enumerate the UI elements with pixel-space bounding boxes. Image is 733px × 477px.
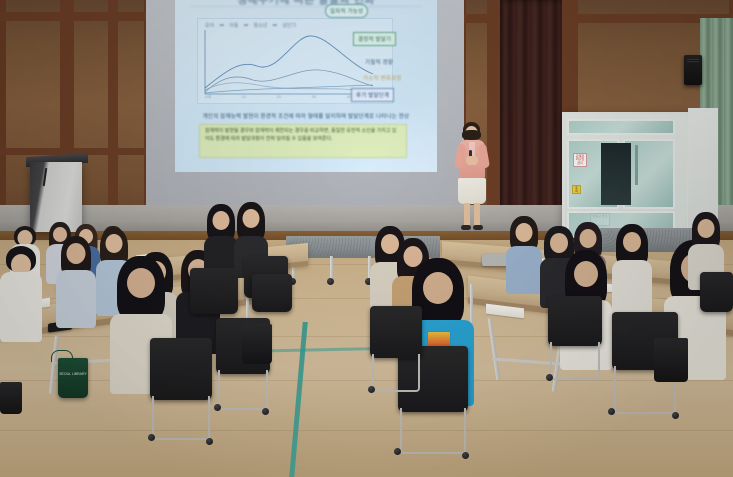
transom-pane (567, 119, 675, 135)
wall-speaker-icon (684, 55, 702, 85)
xtick-0: 0세 (205, 94, 211, 100)
door-sign-restricted: 관계자 외출입 금지 (573, 153, 587, 167)
slide-caption: 개인의 잠재능력 발현이 환경적 조건에 따라 형태를 달리하며 발달단계로 나… (187, 112, 425, 120)
tray-object (482, 254, 508, 266)
chair-frame (372, 354, 420, 392)
shoulder-bag (0, 382, 22, 414)
chart-axis-ticks: 0세 10 20 30 40대 (205, 94, 355, 100)
audience-person (56, 236, 96, 322)
chair-caster (206, 438, 213, 445)
chair[interactable] (252, 274, 292, 312)
slide-callout-dark: 기질적 경향 (361, 56, 397, 68)
wood-rail-left-upper (0, 12, 150, 21)
stage-curtain (500, 0, 562, 228)
audience-person (204, 204, 238, 274)
chair-caster (462, 452, 469, 459)
legend-arrow-icon-2: ➡ (272, 22, 277, 29)
xtick-2: 20 (277, 94, 281, 100)
chair-caster (394, 448, 401, 455)
tote-bag-text: SEOUL LIBRARY (58, 372, 88, 377)
chair[interactable] (150, 338, 212, 400)
table-caster (327, 278, 334, 285)
presenter (452, 122, 492, 232)
legend-item-3: 성인기 (282, 22, 296, 29)
door-sign-caution: 주의 (572, 185, 581, 194)
legend-arrow-icon-0: ➡ (219, 22, 224, 29)
xtick-1: 10 (242, 94, 246, 100)
legend-item-0: 유아 (205, 22, 214, 29)
chair[interactable] (190, 268, 238, 314)
chair-caster (608, 408, 615, 415)
slide-title: 생애주기에 따른 발달과 변화 (191, 0, 421, 7)
door-opening-dark (601, 143, 631, 205)
audience-person (506, 216, 542, 290)
glass-entrance-doors[interactable]: 관계자 외출입 금지 주의 비상구 안내 (562, 112, 690, 238)
slide-callout-amber: 가소적 변화과정 (359, 72, 406, 84)
wall-glass-slot-left (78, 50, 106, 200)
slide-callout-pill: 일차적 가능성 (325, 4, 368, 18)
chair-frame (218, 370, 268, 410)
audience-person (0, 246, 42, 338)
tote-bag-green: SEOUL LIBRARY (58, 358, 88, 398)
wood-column-left-2 (108, 0, 118, 232)
door-mullion (635, 145, 638, 185)
lecture-hall-scene: 생애주기에 따른 발달과 변화 유아 ➡ 아동 ➡ 청소년 ➡ 성인기 0세 1… (0, 0, 733, 477)
chair-caster (262, 408, 269, 415)
audience-person (612, 224, 652, 310)
chart-svg (197, 30, 377, 102)
chair[interactable] (700, 272, 733, 312)
chair-caster (148, 434, 155, 441)
chair-frame (400, 408, 466, 454)
chair[interactable] (370, 306, 422, 358)
chair-caster (368, 386, 375, 393)
projected-slide: 생애주기에 따른 발달과 변화 유아 ➡ 아동 ➡ 청소년 ➡ 성인기 0세 1… (175, 0, 437, 172)
chair[interactable] (548, 296, 602, 346)
slide-note-box: 잠재력이 발현될 경우와 잠재력이 제한되는 경우를 비교하면, 동일한 유전적… (199, 124, 407, 158)
chair-frame (550, 342, 600, 380)
chair-caster (672, 412, 679, 419)
legend-item-1: 아동 (229, 22, 238, 29)
shoulder-bag (654, 338, 688, 382)
chair-frame (152, 396, 210, 440)
slide-callout-green: 결정적 발달기 (353, 32, 396, 46)
chair-caster (546, 374, 553, 381)
chair-caster (214, 404, 221, 411)
legend-item-2: 청소년 (253, 22, 267, 29)
xtick-3: 30 (312, 94, 316, 100)
chart-legend: 유아 ➡ 아동 ➡ 청소년 ➡ 성인기 (205, 22, 296, 29)
legend-arrow-icon-1: ➡ (243, 22, 248, 29)
shoulder-bag (242, 324, 272, 364)
slide-callout-blue: 후기 발달단계 (351, 88, 394, 102)
